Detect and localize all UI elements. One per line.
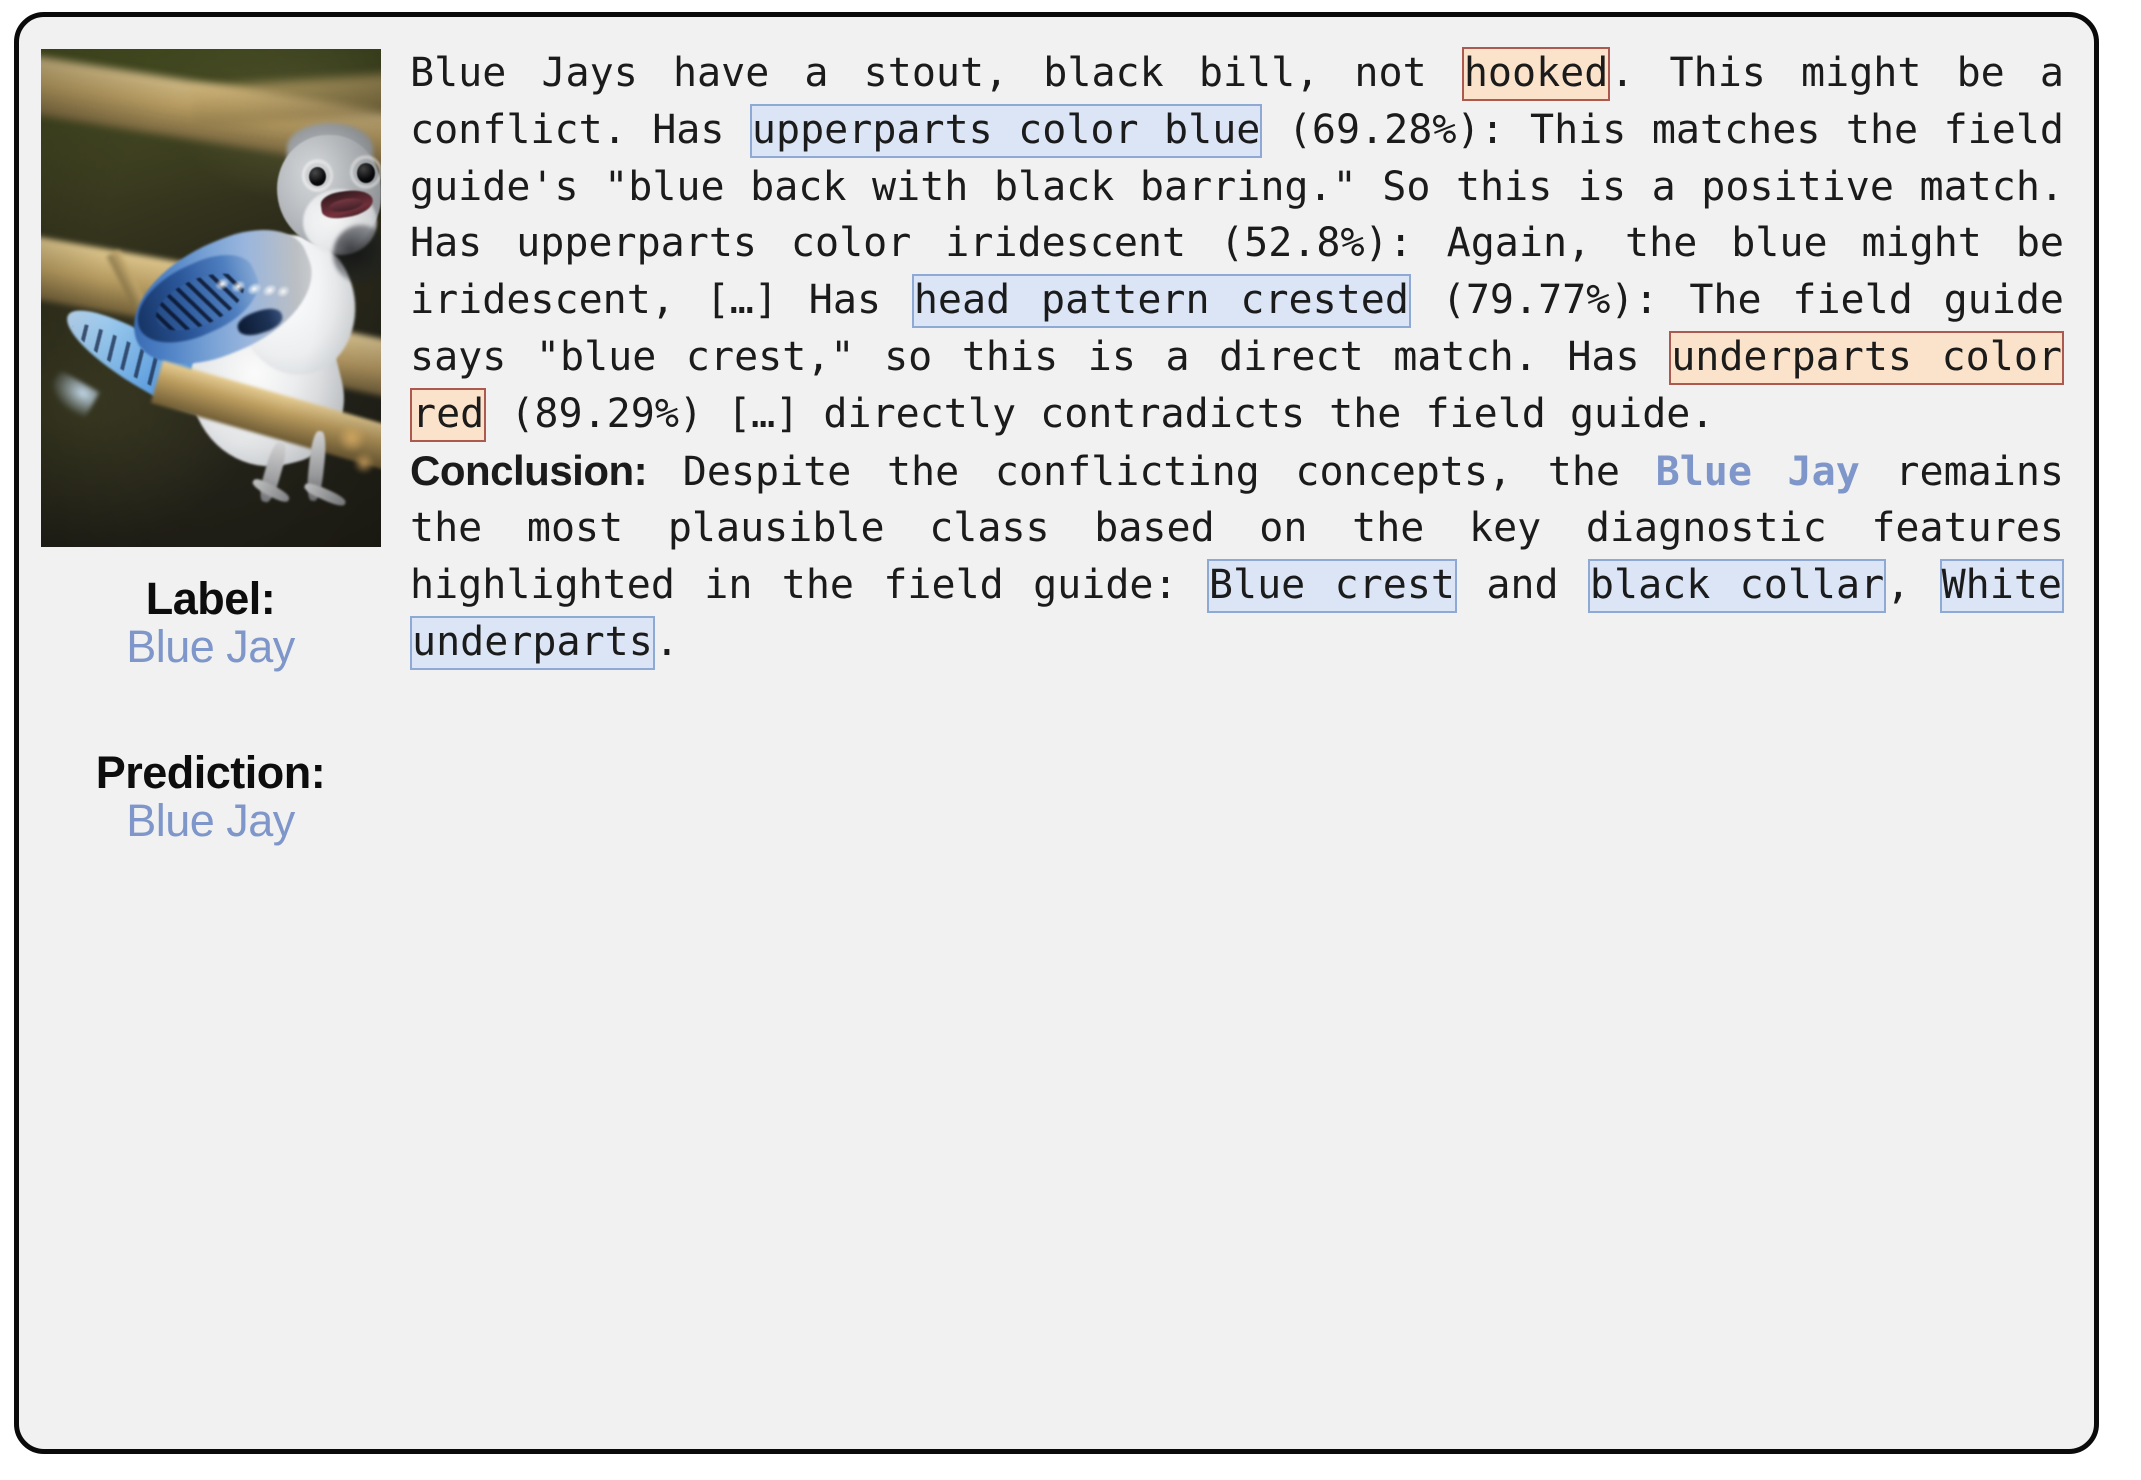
explanation-card: Label: Blue Jay Prediction: Blue Jay Blu… bbox=[14, 12, 2099, 1454]
highlight-hooked: hooked bbox=[1462, 47, 1611, 101]
prediction-title: Prediction: bbox=[33, 749, 388, 796]
blue-jay-photo bbox=[41, 49, 381, 547]
prediction-value: Blue Jay bbox=[33, 796, 388, 846]
photo-vignette bbox=[41, 49, 381, 547]
conclusion-label: Conclusion: bbox=[410, 447, 647, 494]
highlight-blue-crest: Blue crest bbox=[1207, 559, 1457, 613]
label-value: Blue Jay bbox=[33, 622, 388, 672]
highlight-black-collar: black collar bbox=[1588, 559, 1886, 613]
label-block: Label: Blue Jay bbox=[33, 575, 388, 673]
reasoning-segment-6: Despite the conflicting concepts, the bbox=[647, 449, 1655, 495]
reasoning-segment-5: (89.29%) […] directly contradicts the fi… bbox=[486, 391, 1714, 437]
keyword-blue-jay: Blue Jay bbox=[1656, 449, 1860, 495]
reasoning-segment-9: , bbox=[1886, 562, 1939, 608]
highlight-upperparts-color-blue: upperparts color blue bbox=[750, 104, 1262, 158]
reasoning-segment-8: and bbox=[1457, 562, 1588, 608]
highlight-head-pattern-crested: head pattern crested bbox=[912, 274, 1411, 328]
reasoning-text: Blue Jays have a stout, black bill, not … bbox=[410, 45, 2064, 671]
card-inner: Label: Blue Jay Prediction: Blue Jay Blu… bbox=[19, 17, 2094, 1449]
left-panel: Label: Blue Jay Prediction: Blue Jay bbox=[33, 43, 388, 1431]
prediction-block: Prediction: Blue Jay bbox=[33, 749, 388, 847]
right-panel: Blue Jays have a stout, black bill, not … bbox=[388, 43, 2064, 1431]
reasoning-segment-10: . bbox=[655, 619, 679, 665]
reasoning-segment-1: Blue Jays have a stout, black bill, not bbox=[410, 50, 1462, 96]
label-title: Label: bbox=[33, 575, 388, 622]
